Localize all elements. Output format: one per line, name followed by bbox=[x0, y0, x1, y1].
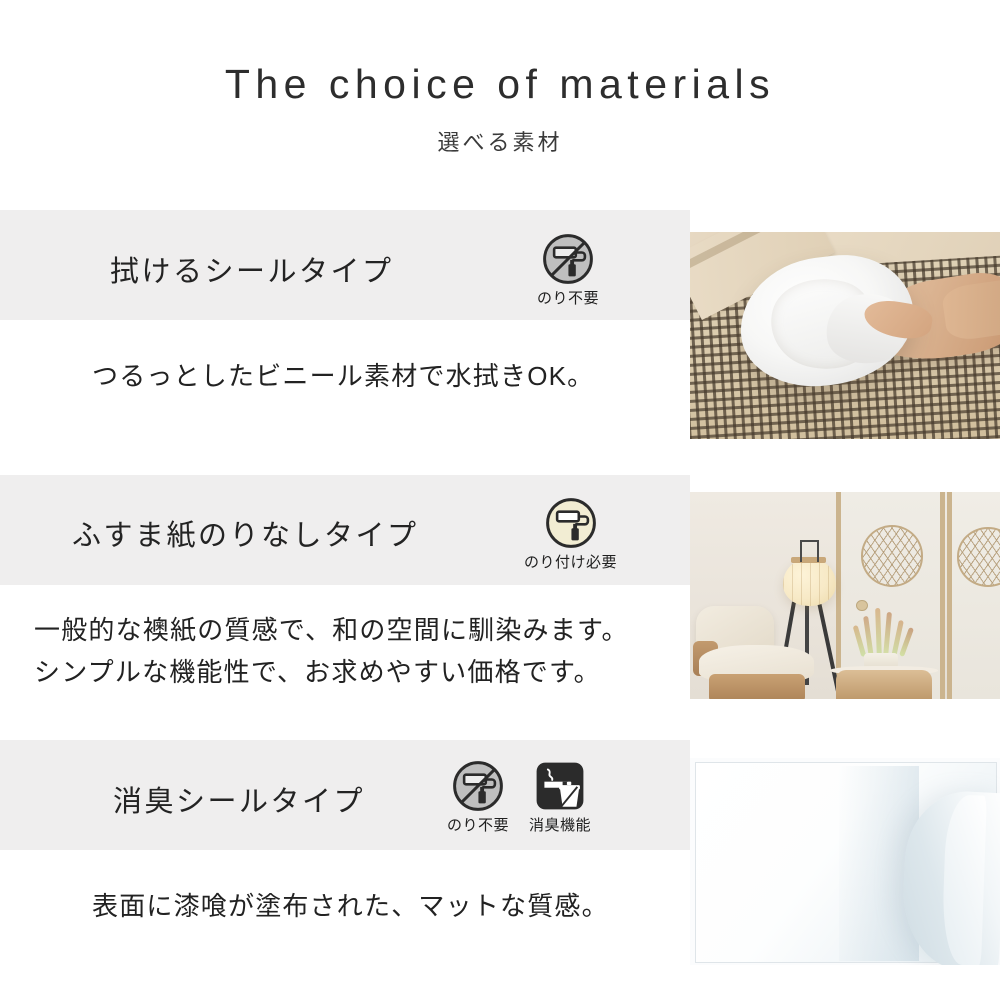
section-2-description-line-2: シンプルな機能性で、お求めやすい価格です。 bbox=[34, 654, 601, 692]
section-1-title: 拭けるシールタイプ bbox=[110, 248, 394, 290]
section-1-badges: のり不要 bbox=[537, 233, 599, 308]
badge-no-glue: のり不要 bbox=[537, 233, 599, 308]
pampas-grass bbox=[851, 604, 919, 658]
badge-no-glue-label: のり不要 bbox=[447, 814, 509, 835]
badge-no-glue-label: のり不要 bbox=[537, 287, 599, 308]
material-choice-page: The choice of materials 選べる素材 拭けるシールタイプ … bbox=[0, 0, 1000, 1000]
section-1-description-line-1: つるっとしたビニール素材で水拭きOK。 bbox=[92, 358, 594, 396]
photo-white-matte-sheet bbox=[690, 758, 1000, 965]
page-header: The choice of materials 選べる素材 bbox=[0, 0, 1000, 200]
page-subtitle-ja: 選べる素材 bbox=[437, 125, 562, 157]
no-glue-icon bbox=[542, 233, 594, 285]
badge-no-glue: のり不要 bbox=[447, 760, 509, 835]
no-glue-icon bbox=[452, 760, 504, 812]
section-2-title: ふすま紙のりなしタイプ bbox=[72, 512, 419, 554]
badge-deodorize: 消臭機能 bbox=[529, 760, 591, 835]
photo-japanese-interior bbox=[690, 492, 1000, 699]
deodorize-icon bbox=[534, 760, 586, 812]
section-3-title: 消臭シールタイプ bbox=[113, 778, 365, 820]
section-2-badges: のり付け必要 bbox=[524, 497, 617, 572]
section-2-description-line-1: 一般的な襖紙の質感で、和の空間に馴染みます。 bbox=[34, 612, 629, 650]
badge-deodorize-label: 消臭機能 bbox=[529, 814, 591, 835]
badge-glue-required-label: のり付け必要 bbox=[524, 551, 617, 572]
section-3-badges: のり不要 消臭機能 bbox=[447, 760, 591, 835]
glue-required-icon bbox=[545, 497, 597, 549]
page-title-en: The choice of materials bbox=[225, 64, 775, 105]
section-3-description-line-1: 表面に漆喰が塗布された、マットな質感。 bbox=[92, 888, 609, 926]
badge-glue-required: のり付け必要 bbox=[524, 497, 617, 572]
photo-wiping-woven-surface bbox=[690, 232, 1000, 439]
